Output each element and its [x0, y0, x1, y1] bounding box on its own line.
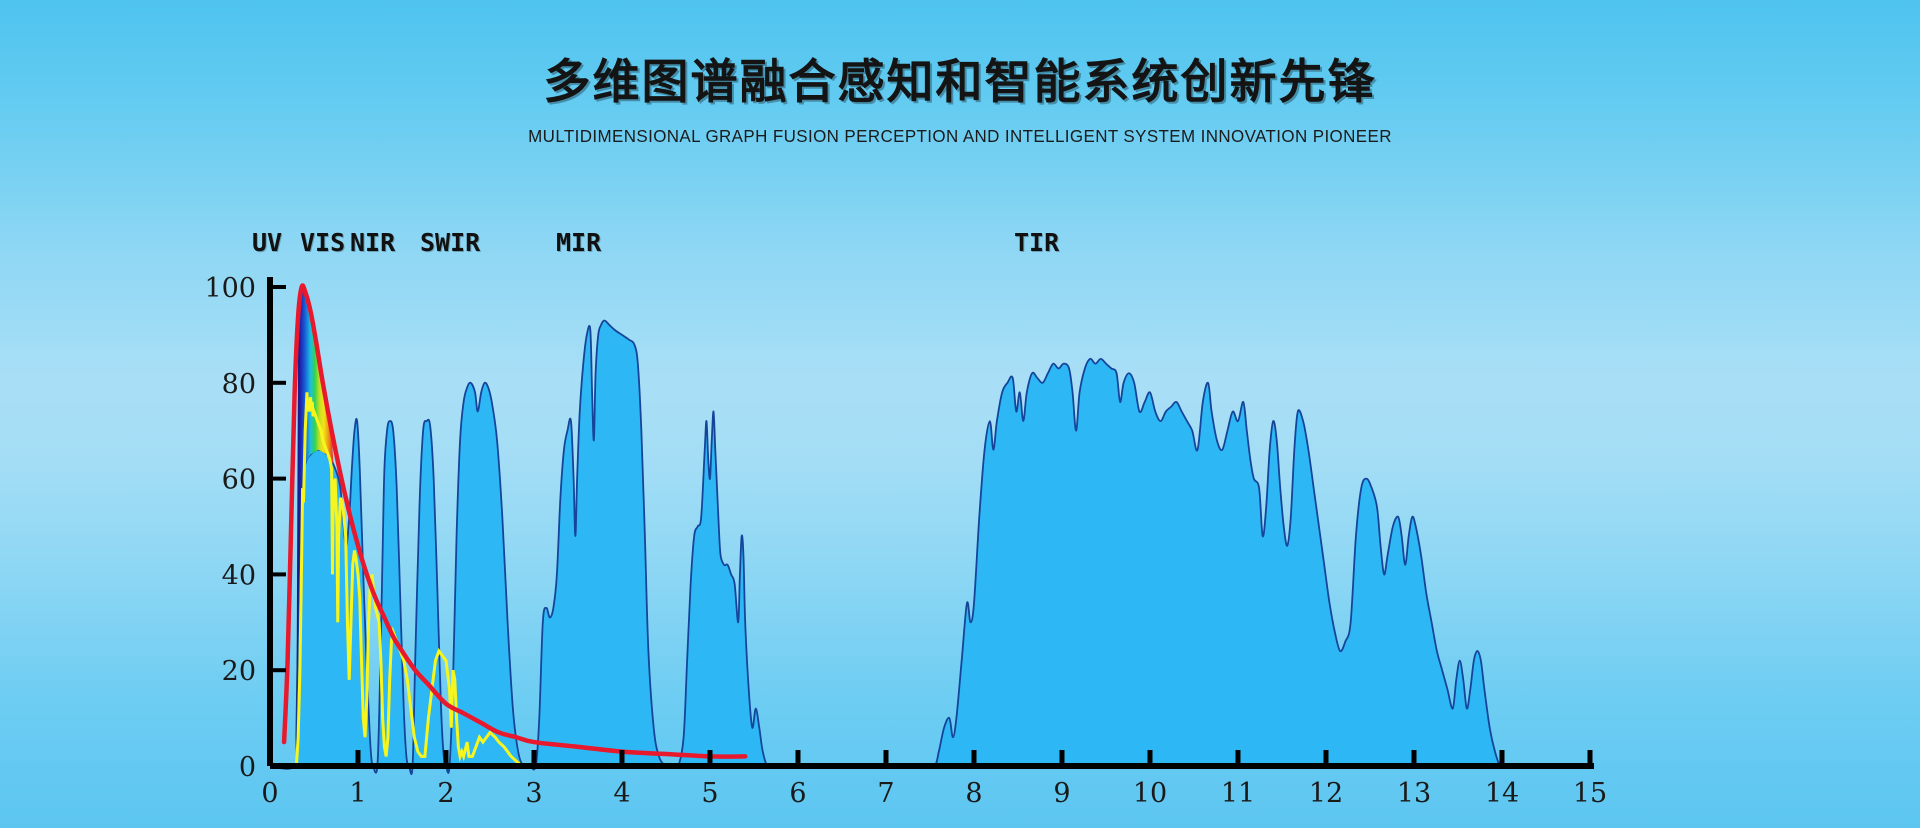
x-tick-label: 14: [1485, 778, 1519, 809]
x-tick-label: 9: [1053, 778, 1070, 809]
transmission-area: [270, 321, 1590, 775]
x-tick-label: 4: [613, 778, 630, 809]
y-tick-label: 0: [239, 752, 256, 783]
x-tick-label: 6: [789, 778, 806, 809]
x-tick-label: 3: [525, 778, 542, 809]
x-tick-label: 5: [701, 778, 718, 809]
y-tick-label: 80: [222, 369, 256, 400]
x-tick-label: 0: [261, 778, 278, 809]
x-tick-label: 8: [965, 778, 982, 809]
x-tick-label: 1: [349, 778, 366, 809]
x-tick-label: 10: [1133, 778, 1167, 809]
chart-svg: 0123456789101112131415020406080100: [0, 0, 1920, 828]
x-tick-label: 11: [1221, 778, 1255, 809]
x-tick-label: 7: [877, 778, 894, 809]
x-tick-label: 2: [437, 778, 454, 809]
y-tick-label: 60: [222, 465, 256, 496]
spectrum-chart: 0123456789101112131415020406080100: [0, 0, 1920, 828]
x-tick-label: 13: [1397, 778, 1431, 809]
x-tick-label: 12: [1309, 778, 1343, 809]
x-tick-label: 15: [1573, 778, 1607, 809]
poster-canvas: 多维图谱融合感知和智能系统创新先锋 MULTIDIMENSIONAL GRAPH…: [0, 0, 1920, 828]
y-tick-label: 20: [222, 656, 256, 687]
y-tick-label: 40: [222, 560, 256, 591]
y-tick-label: 100: [204, 273, 256, 304]
